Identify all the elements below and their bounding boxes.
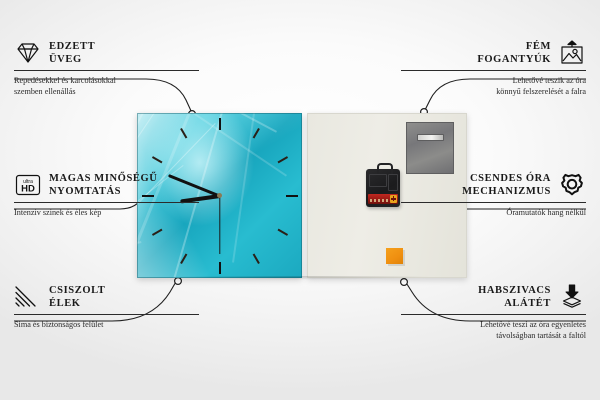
battery-plus-terminal: [390, 195, 397, 203]
feature-title: EDZETT ÜVEG: [49, 40, 95, 66]
mechanism-seam-right: [388, 174, 398, 191]
feature-divider: [14, 314, 199, 315]
feature-description: Óramutatók hang nélkül: [401, 207, 586, 218]
feature-title-line1: HABSZIVACS: [478, 284, 551, 297]
feature-head: EDZETT ÜVEG: [14, 40, 199, 66]
feature-title: HABSZIVACS ALÁTÉT: [478, 284, 551, 310]
feature-title-line2: ÉLEK: [49, 297, 105, 310]
feature-title: FÉM FOGANTYÚK: [477, 40, 551, 66]
feature-desc-line1: Lehetővé teszik az óra: [401, 75, 586, 86]
feature-desc-line2: szemben ellenállás: [14, 86, 199, 97]
feature-foam-pad: HABSZIVACS ALÁTÉT Lehetővé teszi az óra …: [401, 284, 586, 341]
feature-divider: [401, 314, 586, 315]
feature-desc-line1: Óramutatók hang nélkül: [401, 207, 586, 218]
feature-head: HABSZIVACS ALÁTÉT: [401, 284, 586, 310]
battery: [368, 194, 398, 204]
gear-icon: [558, 172, 586, 198]
feature-head: CSISZOLT ÉLEK: [14, 284, 199, 310]
ultra-hd-icon: ultra HD: [14, 173, 42, 197]
feature-title-line1: CSISZOLT: [49, 284, 105, 297]
feature-desc-line2: távolságban tartását a faltól: [401, 330, 586, 341]
feature-divider: [14, 202, 199, 203]
feature-divider: [401, 202, 586, 203]
feature-divider: [401, 70, 586, 71]
feature-title-line2: MECHANIZMUS: [462, 185, 551, 198]
metal-hanger-plate: [406, 122, 454, 174]
feature-divider: [14, 70, 199, 71]
feature-description: Intenzív színek és éles kép: [14, 207, 199, 218]
feature-high-quality-print: ultra HD MAGAS MINŐSÉGŰ NYOMTATÁS Intenz…: [14, 172, 199, 218]
feature-desc-line1: Repedésekkel és karcolásokkal: [14, 75, 199, 86]
feature-title-line1: CSENDES ÓRA: [462, 172, 551, 185]
infographic-canvas: EDZETT ÜVEG Repedésekkel és karcolásokka…: [0, 0, 600, 400]
feature-title: MAGAS MINŐSÉGŰ NYOMTATÁS: [49, 172, 157, 198]
feature-head: CSENDES ÓRA MECHANIZMUS: [401, 172, 586, 198]
feature-silent-mechanism: CSENDES ÓRA MECHANIZMUS Óramutatók hang …: [401, 172, 586, 218]
feature-tempered-glass: EDZETT ÜVEG Repedésekkel és karcolásokka…: [14, 40, 199, 97]
feature-head: FÉM FOGANTYÚK: [401, 40, 586, 66]
mechanism-seam-left: [369, 174, 387, 187]
hanger-slot: [417, 134, 444, 141]
feature-title-line2: ÜVEG: [49, 53, 95, 66]
feature-title: CSISZOLT ÉLEK: [49, 284, 105, 310]
mechanism-hang-loop: [377, 163, 393, 174]
feature-desc-line1: Sima és biztonságos felület: [14, 319, 199, 330]
feature-desc-line1: Intenzív színek és éles kép: [14, 207, 199, 218]
ultra-hd-icon-main-text: HD: [21, 184, 35, 195]
feature-head: ultra HD MAGAS MINŐSÉGŰ NYOMTATÁS: [14, 172, 199, 198]
foam-pad-icon: [558, 284, 586, 310]
feature-description: Repedésekkel és karcolásokkal szemben el…: [14, 75, 199, 97]
feature-title: CSENDES ÓRA MECHANIZMUS: [462, 172, 551, 198]
feature-title-line2: ALÁTÉT: [478, 297, 551, 310]
picture-hanger-icon: [558, 40, 586, 66]
feature-title-line1: EDZETT: [49, 40, 95, 53]
feature-description: Lehetővé teszik az óra könnyű felszerelé…: [401, 75, 586, 97]
diamond-icon: [14, 41, 42, 65]
feature-desc-line1: Lehetővé teszi az óra egyenletes: [401, 319, 586, 330]
feature-description: Lehetővé teszi az óra egyenletes távolsá…: [401, 319, 586, 341]
feature-title-line1: FÉM: [477, 40, 551, 53]
feature-title-line2: NYOMTATÁS: [49, 185, 157, 198]
clock-mechanism-box: [366, 169, 400, 207]
feature-desc-line2: könnyű felszerelését a falra: [401, 86, 586, 97]
polished-edge-icon: [14, 285, 42, 309]
feature-title-line1: MAGAS MINŐSÉGŰ: [49, 172, 157, 185]
feature-description: Sima és biztonságos felület: [14, 319, 199, 330]
foam-pad-sample: [386, 248, 403, 264]
feature-metal-handles: FÉM FOGANTYÚK Lehetővé teszik az óra kön…: [401, 40, 586, 97]
battery-label-bars: [370, 199, 388, 202]
feature-polished-edges: CSISZOLT ÉLEK Sima és biztonságos felüle…: [14, 284, 199, 330]
feature-title-line2: FOGANTYÚK: [477, 53, 551, 66]
